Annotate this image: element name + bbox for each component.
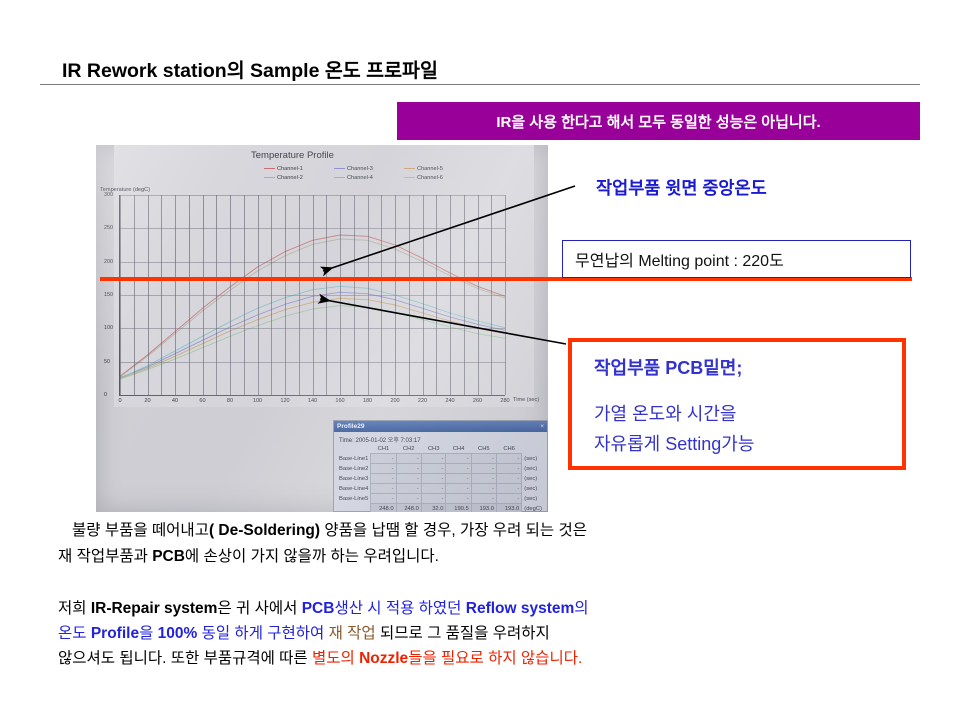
y-axis-tick-label: 50 — [104, 359, 110, 365]
legend-label: Channel-3 — [347, 166, 373, 172]
y-axis-tick-label: 100 — [104, 325, 113, 331]
table-column-header: CH4 — [446, 445, 471, 454]
legend-label: Channel-1 — [277, 166, 303, 172]
legend-swatch — [404, 168, 415, 169]
table-row: Base-Line2------(sec) — [339, 464, 542, 474]
table-cell[interactable]: - — [446, 494, 471, 504]
table-cell[interactable]: - — [421, 494, 446, 504]
x-axis-tick-label: 60 — [199, 398, 205, 404]
table-column-header: CH1 — [371, 445, 396, 454]
grid-line-vertical — [505, 195, 506, 395]
table-cell[interactable]: - — [396, 474, 421, 484]
profile-data-table: CH1CH2CH3CH4CH5CH6 Base-Line1------(sec)… — [339, 445, 542, 512]
legend-label: Channel-4 — [347, 175, 373, 181]
x-axis-tick-label: 80 — [227, 398, 233, 404]
legend-item: Channel-6 — [404, 173, 474, 182]
chart-legend: Channel-1Channel-3Channel-5Channel-2Chan… — [264, 164, 474, 182]
p2-l1-g: 의 — [574, 600, 588, 617]
table-cell[interactable]: 248.0 — [396, 504, 421, 513]
y-axis-tick-label: 0 — [104, 392, 107, 398]
x-axis-tick-label: 0 — [118, 398, 121, 404]
legend-item: Channel-2 — [264, 173, 334, 182]
chart-title: Temperature Profile — [251, 150, 334, 161]
table-header-unit — [522, 445, 542, 454]
p2-l2-c: 을 — [139, 625, 158, 642]
table-row-label: Base-Line3 — [339, 474, 371, 484]
profile-timestamp: Time: 2005-01-02 오후 7:03:17 — [339, 435, 421, 444]
paragraph-concern: 불량 부품을 떼어내고( De-Soldering) 양품을 납땜 할 경우, … — [58, 518, 928, 570]
table-cell[interactable]: 248.0 — [371, 504, 396, 513]
grid-line-horizontal — [120, 195, 505, 196]
p2-l1-f: Reflow system — [466, 600, 575, 617]
table-cell[interactable]: 193.0 — [471, 504, 496, 513]
paragraph-solution: 저희 IR-Repair system은 귀 사에서 PCB생산 시 적용 하였… — [58, 596, 938, 671]
x-axis-tick-label: 40 — [172, 398, 178, 404]
headline-banner-text: IR을 사용 한다고 해서 모두 동일한 성능은 아닙니다. — [496, 111, 820, 132]
table-cell[interactable]: - — [471, 494, 496, 504]
p2-l1-d: PCB — [302, 600, 335, 617]
y-axis-tick-label: 200 — [104, 259, 113, 265]
table-cell[interactable]: - — [371, 454, 396, 464]
table-row: Base-Line1------(sec) — [339, 454, 542, 464]
grid-line-horizontal — [120, 295, 505, 296]
profile-window-titlebar[interactable]: Profile29 × — [334, 421, 547, 432]
pcb-setting-box: 작업부품 PCB밑면; 가열 온도와 시간을 자유롭게 Setting가능 — [568, 338, 906, 470]
table-cell[interactable]: - — [471, 454, 496, 464]
x-axis-tick-label: 100 — [253, 398, 262, 404]
x-axis-tick-label: 20 — [144, 398, 150, 404]
table-cell[interactable]: - — [421, 474, 446, 484]
pcb-box-line1: 작업부품 PCB밑면; — [594, 354, 742, 380]
table-cell[interactable]: - — [446, 484, 471, 494]
legend-label: Channel-5 — [417, 166, 443, 172]
table-cell[interactable]: - — [446, 474, 471, 484]
y-axis-tick-label: 150 — [104, 292, 113, 298]
table-row-unit: (sec) — [522, 494, 542, 504]
table-row-unit: (sec) — [522, 484, 542, 494]
pcb-box-line3: 자유롭게 Setting가능 — [594, 430, 754, 456]
table-cell[interactable]: - — [471, 484, 496, 494]
y-axis-tick-label: 300 — [104, 192, 113, 198]
grid-line-horizontal — [120, 395, 505, 396]
slide-root: IR Rework station의 Sample 온도 프로파일 IR을 사용… — [0, 0, 960, 720]
table-row-label: Base-Line1 — [339, 454, 371, 464]
callout-top-surface-label: 작업부품 윗면 중앙온도 — [596, 175, 767, 200]
table-row-unit: (sec) — [522, 474, 542, 484]
table-column-header: CH5 — [471, 445, 496, 454]
p2-l2-b: Profile — [91, 625, 139, 642]
table-cell[interactable]: - — [421, 484, 446, 494]
table-row-unit: (sec) — [522, 464, 542, 474]
p1-seg-f: 에 손상이 가지 않을까 하는 우려입니다. — [185, 548, 439, 565]
table-cell[interactable]: - — [371, 464, 396, 474]
table-cell[interactable]: - — [421, 454, 446, 464]
table-cell[interactable]: - — [446, 464, 471, 474]
x-axis-tick-label: 200 — [390, 398, 399, 404]
p2-l1-a: 저희 — [58, 600, 91, 617]
legend-swatch — [264, 168, 275, 169]
x-axis-tick-label: 120 — [280, 398, 289, 404]
table-cell[interactable]: - — [371, 474, 396, 484]
close-icon[interactable]: × — [540, 423, 544, 430]
x-axis-tick-label: 180 — [363, 398, 372, 404]
table-row: Base-Line4------(sec) — [339, 484, 542, 494]
table-row-label — [339, 504, 371, 513]
table-header-blank — [339, 445, 371, 454]
table-cell[interactable]: - — [496, 474, 521, 484]
profile-window-title: Profile29 — [337, 423, 364, 430]
legend-item: Channel-4 — [334, 173, 404, 182]
grid-line-horizontal — [120, 228, 505, 229]
table-cell[interactable]: - — [496, 494, 521, 504]
legend-label: Channel-6 — [417, 175, 443, 181]
profile-window[interactable]: Profile29 × Time: 2005-01-02 오후 7:03:17 … — [333, 420, 548, 512]
p2-l2-f: 재 작업 — [329, 625, 376, 642]
grid-line-horizontal — [120, 262, 505, 263]
x-axis-tick-label: 140 — [308, 398, 317, 404]
legend-swatch — [334, 177, 345, 178]
table-cell[interactable]: - — [496, 454, 521, 464]
chart-plot-area: 0501001502002503000204060801001201401601… — [119, 195, 505, 396]
p2-l2-g: 되므로 그 품질을 우려하지 — [376, 625, 550, 642]
legend-swatch — [334, 168, 345, 169]
table-column-header: CH3 — [421, 445, 446, 454]
temperature-profile-photo: Temperature Profile Channel-1Channel-3Ch… — [96, 145, 548, 512]
p2-l3-a: 않으셔도 됩니다. 또한 부품규격에 따른 — [58, 650, 312, 667]
melting-point-box: 무연납의 Melting point : 220도 — [562, 240, 911, 278]
chart-xlabel: Time (sec) — [513, 397, 539, 403]
legend-item: Channel-1 — [264, 164, 334, 173]
table-cell[interactable]: 32.0 — [421, 504, 446, 513]
p1-seg-c: 양품을 납땜 할 경우, 가장 우려 되는 것은 — [320, 522, 587, 539]
table-cell[interactable]: - — [396, 494, 421, 504]
p2-l2-d: 100% — [158, 625, 198, 642]
table-cell[interactable]: - — [396, 454, 421, 464]
p1-seg-d: 재 작업부품과 — [58, 548, 152, 565]
pcb-box-line2: 가열 온도와 시간을 — [594, 400, 736, 426]
table-row-label: Base-Line2 — [339, 464, 371, 474]
p1-seg-b: ( De-Soldering) — [209, 522, 320, 539]
p1-seg-e: PCB — [152, 548, 185, 565]
table-row-label: Base-Line4 — [339, 484, 371, 494]
legend-item: Channel-5 — [404, 164, 474, 173]
table-column-header: CH6 — [496, 445, 521, 454]
table-cell[interactable]: - — [496, 464, 521, 474]
table-row-unit: (degC) — [522, 504, 542, 513]
table-cell[interactable]: - — [396, 484, 421, 494]
table-cell[interactable]: - — [371, 494, 396, 504]
p2-l3-d: 들을 필요로 하지 않습니다. — [408, 650, 582, 667]
table-column-header: CH2 — [396, 445, 421, 454]
title-divider — [40, 84, 920, 85]
table-cell[interactable]: - — [496, 484, 521, 494]
headline-banner: IR을 사용 한다고 해서 모두 동일한 성능은 아닙니다. — [397, 102, 920, 140]
table-row-unit: (sec) — [522, 454, 542, 464]
p2-l2-e: 동일 하게 구현하여 — [197, 625, 328, 642]
table-cell[interactable]: 190.5 — [446, 504, 471, 513]
table-cell[interactable]: 193.0 — [496, 504, 521, 513]
x-axis-tick-label: 220 — [418, 398, 427, 404]
p1-seg-a: 불량 부품을 떼어내고 — [58, 522, 209, 539]
table-row: 248.0248.032.0190.5193.0193.0(degC) — [339, 504, 542, 513]
p2-l3-b: 별도의 — [312, 650, 359, 667]
grid-line-horizontal — [120, 362, 505, 363]
table-row: Base-Line3------(sec) — [339, 474, 542, 484]
p2-l1-b: IR-Repair system — [91, 600, 218, 617]
p2-l1-e: 생산 시 적용 하였던 — [334, 600, 465, 617]
y-axis-tick-label: 250 — [104, 225, 113, 231]
table-cell[interactable]: - — [421, 464, 446, 474]
table-header-row: CH1CH2CH3CH4CH5CH6 — [339, 445, 542, 454]
x-axis-tick-label: 260 — [473, 398, 482, 404]
table-row-label: Base-Line5 — [339, 494, 371, 504]
x-axis-tick-label: 280 — [500, 398, 509, 404]
x-axis-tick-label: 160 — [335, 398, 344, 404]
table-cell[interactable]: - — [446, 454, 471, 464]
grid-line-horizontal — [120, 328, 505, 329]
table-cell[interactable]: - — [371, 484, 396, 494]
table-cell[interactable]: - — [471, 474, 496, 484]
table-row: Base-Line5------(sec) — [339, 494, 542, 504]
legend-swatch — [264, 177, 275, 178]
p2-l2-a: 온도 — [58, 625, 91, 642]
x-axis-tick-label: 240 — [445, 398, 454, 404]
table-body: Base-Line1------(sec)Base-Line2------(se… — [339, 454, 542, 513]
legend-label: Channel-2 — [277, 175, 303, 181]
table-cell[interactable]: - — [396, 464, 421, 474]
legend-swatch — [404, 177, 415, 178]
table-cell[interactable]: - — [471, 464, 496, 474]
page-title: IR Rework station의 Sample 온도 프로파일 — [62, 54, 438, 83]
p2-l1-c: 은 귀 사에서 — [217, 600, 301, 617]
legend-item: Channel-3 — [334, 164, 404, 173]
p2-l3-c: Nozzle — [359, 650, 408, 667]
melting-point-text: 무연납의 Melting point : 220도 — [563, 247, 784, 271]
